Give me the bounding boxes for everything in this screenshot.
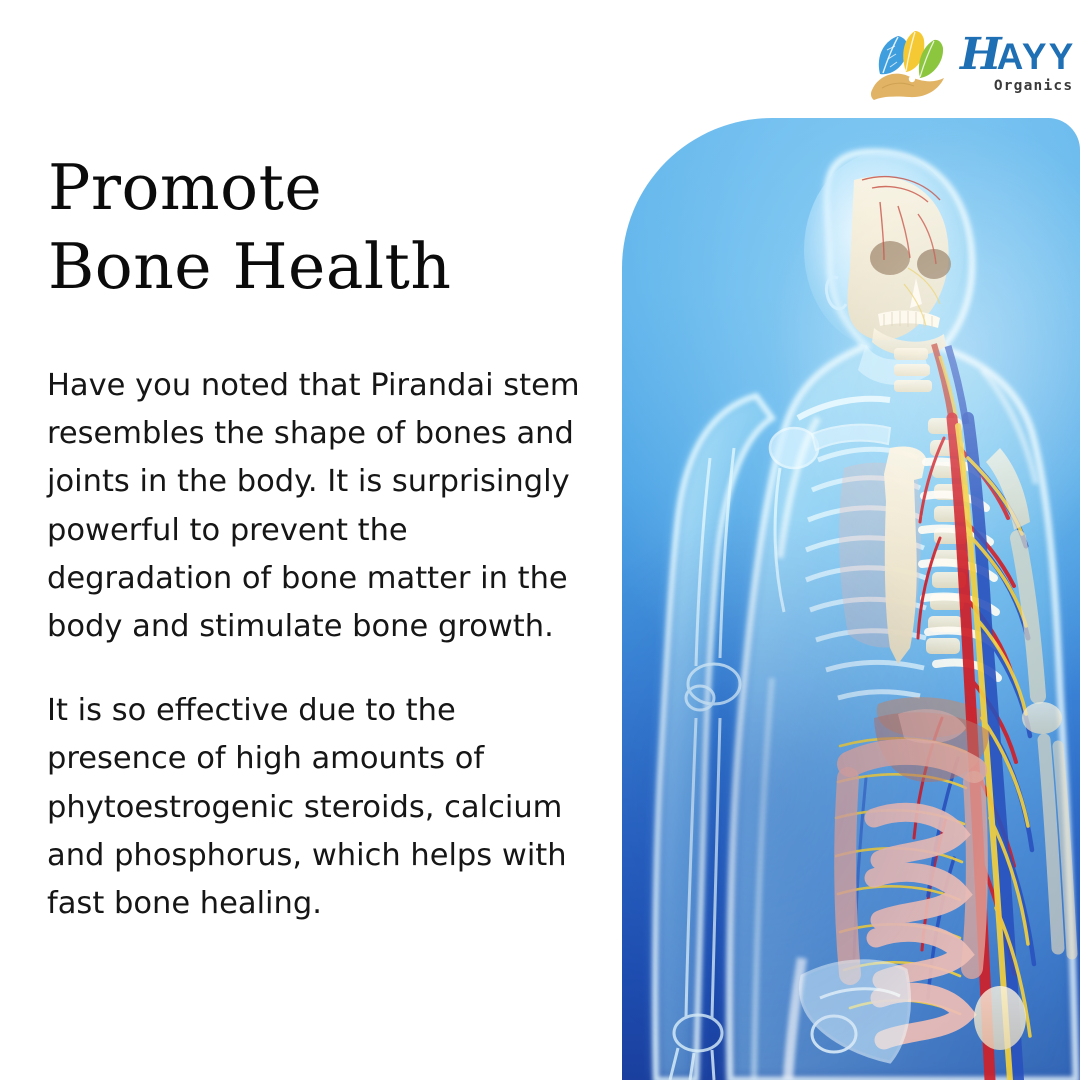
brand-name: HAYY [960, 33, 1075, 77]
brand-tagline: Organics [994, 79, 1073, 94]
leaves-and-wing-icon [868, 28, 954, 102]
body-copy: Have you noted that Pirandai stem resemb… [47, 362, 592, 928]
paragraph-1: Have you noted that Pirandai stem resemb… [47, 362, 592, 651]
anatomy-image-panel [622, 118, 1080, 1080]
human-anatomy-illustration [622, 118, 1080, 1080]
brand-logo[interactable]: HAYY Organics [868, 26, 1058, 104]
poster-canvas: HAYY Organics Promote Bone Health Have y… [0, 0, 1080, 1080]
page-title: Promote Bone Health [48, 148, 588, 307]
brand-initial: H [960, 29, 1000, 80]
paragraph-2: It is so effective due to the presence o… [47, 687, 592, 928]
brand-name-rest: AYY [997, 36, 1076, 77]
brand-wordmark: HAYY Organics [960, 33, 1075, 98]
pelvis [800, 961, 909, 1062]
